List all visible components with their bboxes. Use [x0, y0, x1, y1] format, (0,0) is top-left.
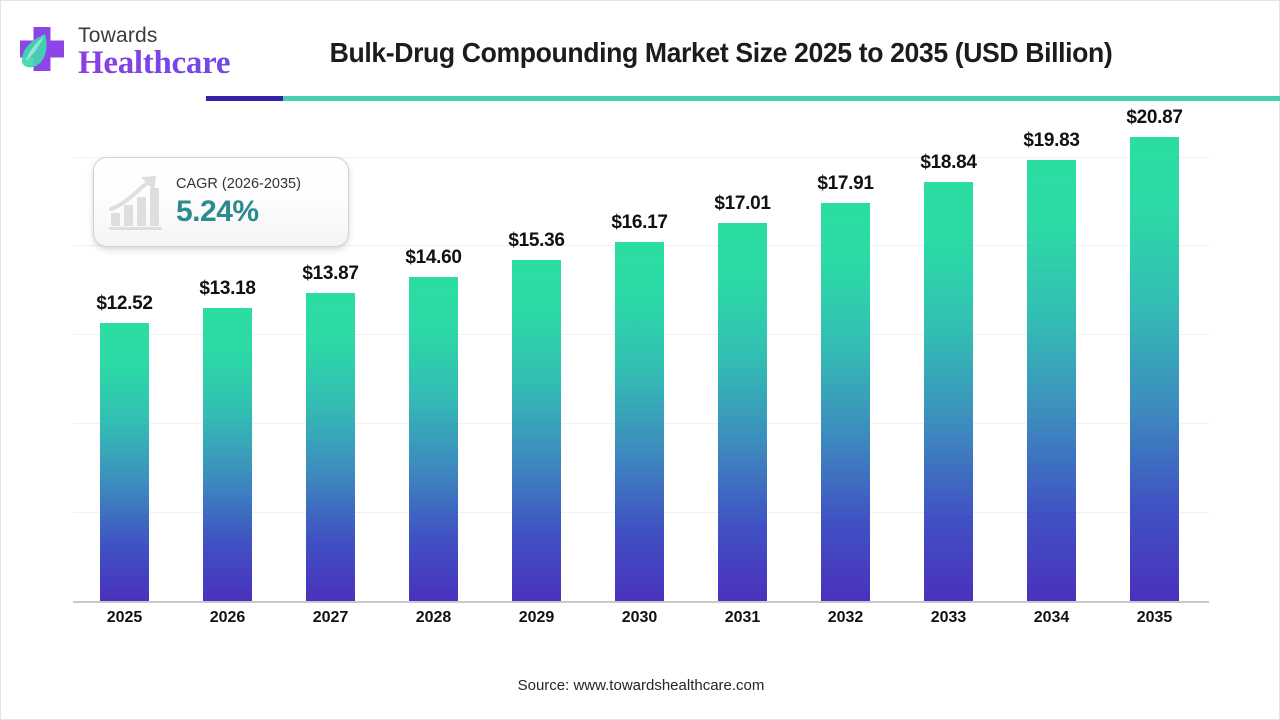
- bar-value-label: $13.87: [278, 263, 383, 285]
- x-axis-tick-label: 2032: [794, 609, 897, 627]
- bar-group: $17.912032: [794, 101, 897, 601]
- header: Towards Healthcare Bulk-Drug Compounding…: [1, 1, 1280, 101]
- bar-group: $17.012031: [691, 101, 794, 601]
- bar: [1130, 137, 1179, 601]
- cagr-value: 5.24%: [176, 197, 301, 227]
- bar-group: $19.832034: [1000, 101, 1103, 601]
- bar: [306, 293, 355, 601]
- x-axis-tick-label: 2034: [1000, 609, 1103, 627]
- bar: [1027, 160, 1076, 601]
- x-axis-tick-label: 2025: [73, 609, 176, 627]
- source-caption: Source: www.towardshealthcare.com: [1, 677, 1280, 694]
- bar: [615, 242, 664, 601]
- bar-value-label: $18.84: [896, 152, 1001, 174]
- bar-group: $15.362029: [485, 101, 588, 601]
- bar-group: $14.602028: [382, 101, 485, 601]
- brand-line-2: Healthcare: [78, 47, 230, 80]
- x-axis-tick-label: 2035: [1103, 609, 1206, 627]
- x-axis-line: [73, 601, 1209, 603]
- bar-value-label: $19.83: [999, 130, 1104, 152]
- x-axis-tick-label: 2028: [382, 609, 485, 627]
- bar-value-label: $17.91: [793, 173, 898, 195]
- brand-wordmark: Towards Healthcare: [78, 25, 230, 80]
- cagr-label: CAGR (2026-2035): [176, 177, 301, 192]
- cagr-text-block: CAGR (2026-2035) 5.24%: [176, 177, 301, 227]
- bar-group: $20.872035: [1103, 101, 1206, 601]
- bar-value-label: $14.60: [381, 247, 486, 269]
- bar: [821, 203, 870, 601]
- bar-group: $16.172030: [588, 101, 691, 601]
- chart-page: Towards Healthcare Bulk-Drug Compounding…: [0, 0, 1280, 720]
- bar-value-label: $15.36: [484, 230, 589, 252]
- bar-group: $18.842033: [897, 101, 1000, 601]
- bar: [718, 223, 767, 601]
- page-title: Bulk-Drug Compounding Market Size 2025 t…: [241, 37, 1201, 69]
- bar-value-label: $12.52: [72, 293, 177, 315]
- brand-line-1: Towards: [78, 25, 230, 46]
- x-axis-tick-label: 2026: [176, 609, 279, 627]
- medical-cross-leaf-logo-icon: [15, 24, 69, 80]
- bar-value-label: $13.18: [175, 278, 280, 300]
- brand-logo: Towards Healthcare: [15, 17, 230, 87]
- x-axis-tick-label: 2030: [588, 609, 691, 627]
- bar: [924, 182, 973, 601]
- bar: [100, 323, 149, 601]
- bar: [512, 260, 561, 601]
- bar: [409, 277, 458, 601]
- growth-bar-chart-arrow-icon: [104, 171, 168, 233]
- x-axis-tick-label: 2033: [897, 609, 1000, 627]
- x-axis-tick-label: 2029: [485, 609, 588, 627]
- cagr-badge: CAGR (2026-2035) 5.24%: [93, 157, 349, 247]
- bar-value-label: $17.01: [690, 193, 795, 215]
- bar-value-label: $16.17: [587, 212, 692, 234]
- x-axis-tick-label: 2031: [691, 609, 794, 627]
- x-axis-tick-label: 2027: [279, 609, 382, 627]
- bar-value-label: $20.87: [1102, 107, 1207, 129]
- bar: [203, 308, 252, 601]
